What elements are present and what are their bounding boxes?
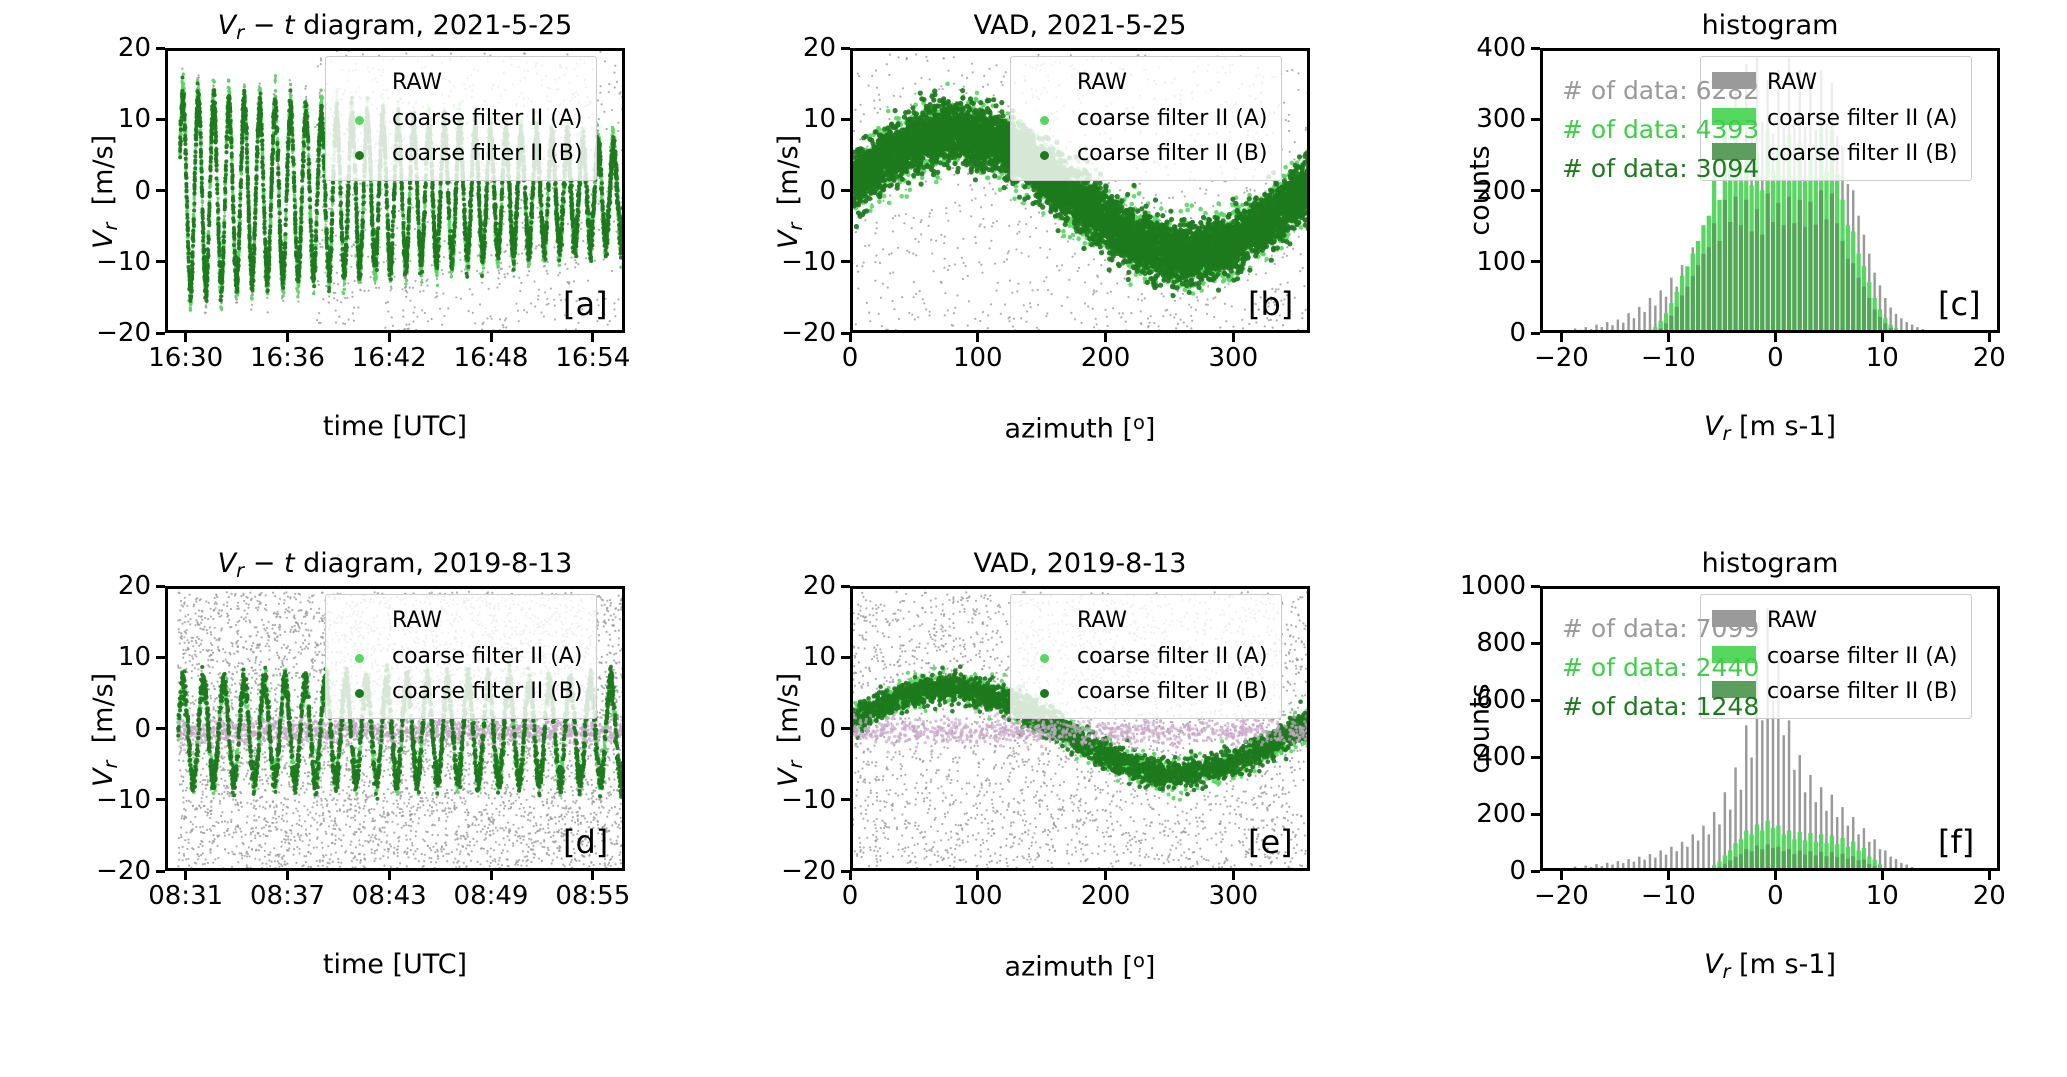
y-tick-mark	[841, 47, 850, 50]
legend-item[interactable]: coarse filter II (B)	[1021, 674, 1267, 710]
legend-item[interactable]: coarse filter II (B)	[336, 136, 582, 172]
y-tick-mark	[1531, 813, 1540, 816]
y-tick-label: 1000	[1436, 571, 1526, 601]
y-tick-label: 20	[61, 571, 151, 601]
y-tick-mark	[156, 189, 165, 192]
x-tick-mark	[1560, 871, 1563, 880]
panel-b: VAD, 2021-5-2520100−10−200100200300Vr [m…	[745, 10, 1405, 530]
panel-title: VAD, 2021-5-25	[850, 10, 1310, 41]
y-tick-mark	[156, 47, 165, 50]
y-tick-mark	[1531, 260, 1540, 263]
y-axis-label: Vr [m/s]	[773, 619, 807, 839]
y-axis-label: Vr [m/s]	[88, 81, 122, 301]
y-tick-label: 400	[1436, 33, 1526, 63]
x-tick-mark	[1774, 333, 1777, 342]
marker-dot	[355, 654, 364, 663]
legend[interactable]: RAWcoarse filter II (A)coarse filter II …	[325, 56, 597, 181]
x-tick-mark	[490, 333, 493, 342]
x-tick-mark	[1104, 871, 1107, 880]
panel-a: Vr − t diagram, 2021-5-2520100−10−2016:3…	[60, 10, 720, 530]
legend-marker-raw	[1021, 603, 1067, 639]
legend-item[interactable]: RAW	[1021, 603, 1267, 639]
data-count-annotation: # of data: 4393	[1562, 111, 1759, 149]
panel-tag: [a]	[563, 285, 608, 323]
legend-marker-filter-a	[1021, 101, 1067, 137]
legend-label: coarse filter II (A)	[392, 639, 582, 675]
y-tick-mark	[841, 260, 850, 263]
x-axis-label: azimuth [o]	[850, 411, 1310, 445]
y-tick-mark	[156, 798, 165, 801]
legend-item[interactable]: coarse filter II (A)	[336, 101, 582, 137]
legend[interactable]: RAWcoarse filter II (A)coarse filter II …	[1010, 56, 1282, 181]
y-tick-mark	[841, 118, 850, 121]
y-tick-mark	[1531, 585, 1540, 588]
x-tick-mark	[1988, 871, 1991, 880]
panel-e: VAD, 2019-8-1320100−10−200100200300Vr [m…	[745, 548, 1405, 1068]
legend-marker-filter-b	[1021, 674, 1067, 710]
y-tick-mark	[841, 727, 850, 730]
data-count-annotation: # of data: 2440	[1562, 649, 1759, 687]
legend-label: coarse filter II (A)	[1767, 101, 1957, 137]
x-tick-label: 20	[1904, 343, 2067, 373]
x-tick-mark	[1104, 333, 1107, 342]
x-axis-label: time [UTC]	[165, 411, 625, 442]
y-tick-mark	[156, 727, 165, 730]
y-tick-mark	[841, 189, 850, 192]
x-tick-label: 08:55	[508, 881, 678, 911]
legend-marker-filter-b	[336, 136, 382, 172]
x-tick-mark	[1667, 871, 1670, 880]
legend-label: RAW	[1767, 65, 1817, 101]
legend-label: coarse filter II (B)	[1767, 136, 1957, 172]
legend[interactable]: RAWcoarse filter II (A)coarse filter II …	[325, 594, 597, 719]
legend-label: RAW	[1767, 603, 1817, 639]
x-tick-mark	[490, 871, 493, 880]
marker-dot	[355, 151, 364, 160]
x-tick-mark	[591, 333, 594, 342]
marker-dot	[1040, 116, 1049, 125]
x-axis-label: Vr [m s-1]	[1540, 411, 2000, 445]
y-axis-label: Vr [m/s]	[88, 619, 122, 839]
y-tick-label: 20	[746, 33, 836, 63]
x-tick-mark	[1232, 333, 1235, 342]
y-tick-mark	[841, 656, 850, 659]
panel-tag: [f]	[1938, 823, 1974, 861]
legend-marker-raw	[336, 65, 382, 101]
x-tick-mark	[1560, 333, 1563, 342]
legend-item[interactable]: coarse filter II (A)	[1021, 639, 1267, 675]
panel-title: histogram	[1540, 10, 2000, 41]
y-tick-mark	[156, 332, 165, 335]
legend-label: RAW	[1077, 603, 1127, 639]
data-count-annotation: # of data: 1248	[1562, 688, 1759, 726]
panel-tag: [b]	[1248, 285, 1293, 323]
data-count-annotation: # of data: 7099	[1562, 610, 1759, 648]
legend-item[interactable]: coarse filter II (B)	[1021, 136, 1267, 172]
legend-marker-raw	[1021, 65, 1067, 101]
y-tick-mark	[156, 118, 165, 121]
y-axis-label: Vr [m/s]	[773, 81, 807, 301]
x-tick-mark	[388, 333, 391, 342]
y-tick-mark	[156, 260, 165, 263]
x-tick-label: 16:54	[508, 343, 678, 373]
legend-marker-filter-b	[1021, 136, 1067, 172]
legend-marker-filter-b	[336, 674, 382, 710]
y-tick-mark	[1531, 118, 1540, 121]
legend-item[interactable]: coarse filter II (A)	[336, 639, 582, 675]
y-tick-mark	[1531, 699, 1540, 702]
x-tick-mark	[286, 333, 289, 342]
panel-title: histogram	[1540, 548, 2000, 579]
panel-tag: [c]	[1938, 285, 1981, 323]
legend-label: coarse filter II (A)	[392, 101, 582, 137]
y-axis-label: counts	[1465, 80, 1496, 300]
legend-label: RAW	[1077, 65, 1127, 101]
legend[interactable]: RAWcoarse filter II (A)coarse filter II …	[1010, 594, 1282, 719]
x-tick-mark	[976, 333, 979, 342]
marker-dot	[355, 116, 364, 125]
y-tick-mark	[841, 585, 850, 588]
x-tick-mark	[1881, 333, 1884, 342]
legend-label: coarse filter II (B)	[1077, 674, 1267, 710]
marker-dot	[355, 689, 364, 698]
y-tick-mark	[1531, 332, 1540, 335]
marker-dot	[1040, 654, 1049, 663]
y-tick-mark	[841, 798, 850, 801]
x-tick-mark	[1232, 871, 1235, 880]
y-tick-mark	[156, 656, 165, 659]
marker-dot	[1040, 151, 1049, 160]
x-tick-mark	[184, 333, 187, 342]
legend-marker-filter-a	[336, 639, 382, 675]
x-axis-label: azimuth [o]	[850, 949, 1310, 983]
legend-label: RAW	[392, 603, 442, 639]
figure-root: Vr − t diagram, 2021-5-2520100−10−2016:3…	[0, 0, 2067, 1077]
legend-item[interactable]: RAW	[336, 603, 582, 639]
x-tick-mark	[184, 871, 187, 880]
y-tick-label: 20	[746, 571, 836, 601]
y-tick-label: 20	[61, 33, 151, 63]
legend-label: RAW	[392, 65, 442, 101]
legend-label: coarse filter II (A)	[1077, 101, 1267, 137]
data-count-annotation: # of data: 3094	[1562, 150, 1759, 188]
x-tick-label: 300	[1148, 343, 1318, 373]
y-tick-mark	[1531, 756, 1540, 759]
y-tick-mark	[1531, 47, 1540, 50]
panel-title: Vr − t diagram, 2019-8-13	[165, 548, 625, 582]
panel-tag: [e]	[1248, 823, 1293, 861]
panel-title: VAD, 2019-8-13	[850, 548, 1310, 579]
legend-item[interactable]: coarse filter II (A)	[1021, 101, 1267, 137]
legend-marker-filter-a	[1021, 639, 1067, 675]
x-tick-mark	[1667, 333, 1670, 342]
x-tick-mark	[849, 871, 852, 880]
x-tick-mark	[1881, 871, 1884, 880]
legend-item[interactable]: coarse filter II (B)	[336, 674, 582, 710]
y-tick-mark	[1531, 642, 1540, 645]
x-tick-mark	[976, 871, 979, 880]
x-axis-label: time [UTC]	[165, 949, 625, 980]
y-tick-mark	[1531, 189, 1540, 192]
legend-item[interactable]: RAW	[336, 65, 582, 101]
x-tick-mark	[286, 871, 289, 880]
legend-marker-raw	[336, 603, 382, 639]
panel-title: Vr − t diagram, 2021-5-25	[165, 10, 625, 44]
x-axis-label: Vr [m s-1]	[1540, 949, 2000, 983]
y-tick-mark	[156, 585, 165, 588]
data-count-annotation: # of data: 6282	[1562, 72, 1759, 110]
legend-label: coarse filter II (B)	[392, 136, 582, 172]
x-tick-mark	[1774, 871, 1777, 880]
x-tick-mark	[1988, 333, 1991, 342]
legend-label: coarse filter II (B)	[392, 674, 582, 710]
y-tick-mark	[156, 870, 165, 873]
legend-label: coarse filter II (B)	[1077, 136, 1267, 172]
panel-d: Vr − t diagram, 2019-8-1320100−10−2008:3…	[60, 548, 720, 1068]
legend-label: coarse filter II (B)	[1767, 674, 1957, 710]
legend-label: coarse filter II (A)	[1077, 639, 1267, 675]
y-axis-label: counts	[1465, 618, 1496, 838]
x-tick-label: 300	[1148, 881, 1318, 911]
x-tick-label: 20	[1904, 881, 2067, 911]
x-tick-mark	[849, 333, 852, 342]
panel-f: histogram10008006004002000−20−1001020cou…	[1435, 548, 2067, 1068]
legend-marker-filter-a	[336, 101, 382, 137]
marker-dot	[1040, 689, 1049, 698]
legend-label: coarse filter II (A)	[1767, 639, 1957, 675]
panel-tag: [d]	[563, 823, 608, 861]
y-tick-mark	[1531, 870, 1540, 873]
x-tick-mark	[388, 871, 391, 880]
panel-c: histogram4003002001000−20−1001020countsV…	[1435, 10, 2067, 530]
x-tick-mark	[591, 871, 594, 880]
legend-item[interactable]: RAW	[1021, 65, 1267, 101]
